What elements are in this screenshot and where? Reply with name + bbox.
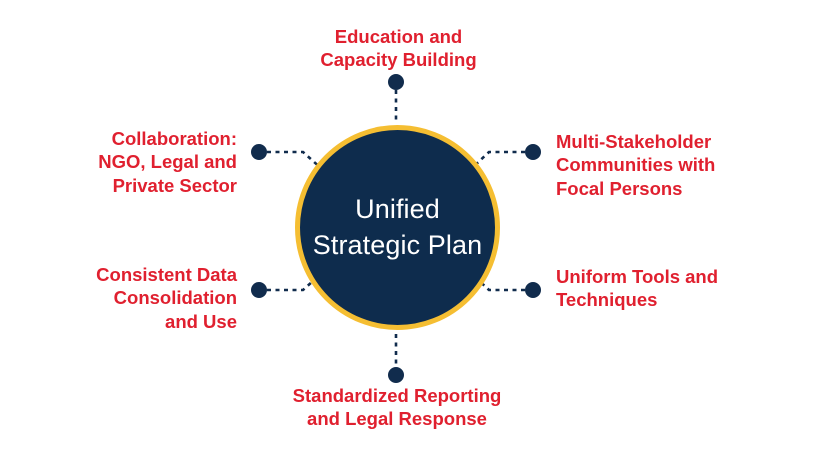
connector-dot-left-bottom [251,282,267,298]
connector-dot-right-bottom [525,282,541,298]
spoke-label-collaboration-ngo-legal-private-sector: Collaboration: NGO, Legal and Private Se… [72,127,237,197]
spoke-label-education-and-capacity-building: Education and Capacity Building [286,25,511,72]
connector-dot-right-top [525,144,541,160]
connector-dot-left-top [251,144,267,160]
central-hub-label: Unified Strategic Plan [313,192,483,263]
spoke-label-standardized-reporting-and-legal-response: Standardized Reporting and Legal Respons… [272,384,522,431]
spoke-label-consistent-data-consolidation-and-use: Consistent Data Consolidation and Use [72,263,237,333]
hub-and-spoke-diagram: Unified Strategic Plan Education and Cap… [0,0,814,475]
connector-dot-top [388,74,404,90]
spoke-label-uniform-tools-and-techniques: Uniform Tools and Techniques [556,265,746,312]
spoke-label-multi-stakeholder-communities-with-focal-persons: Multi-Stakeholder Communities with Focal… [556,130,746,200]
connector-dot-bottom [388,367,404,383]
central-hub: Unified Strategic Plan [295,125,500,330]
